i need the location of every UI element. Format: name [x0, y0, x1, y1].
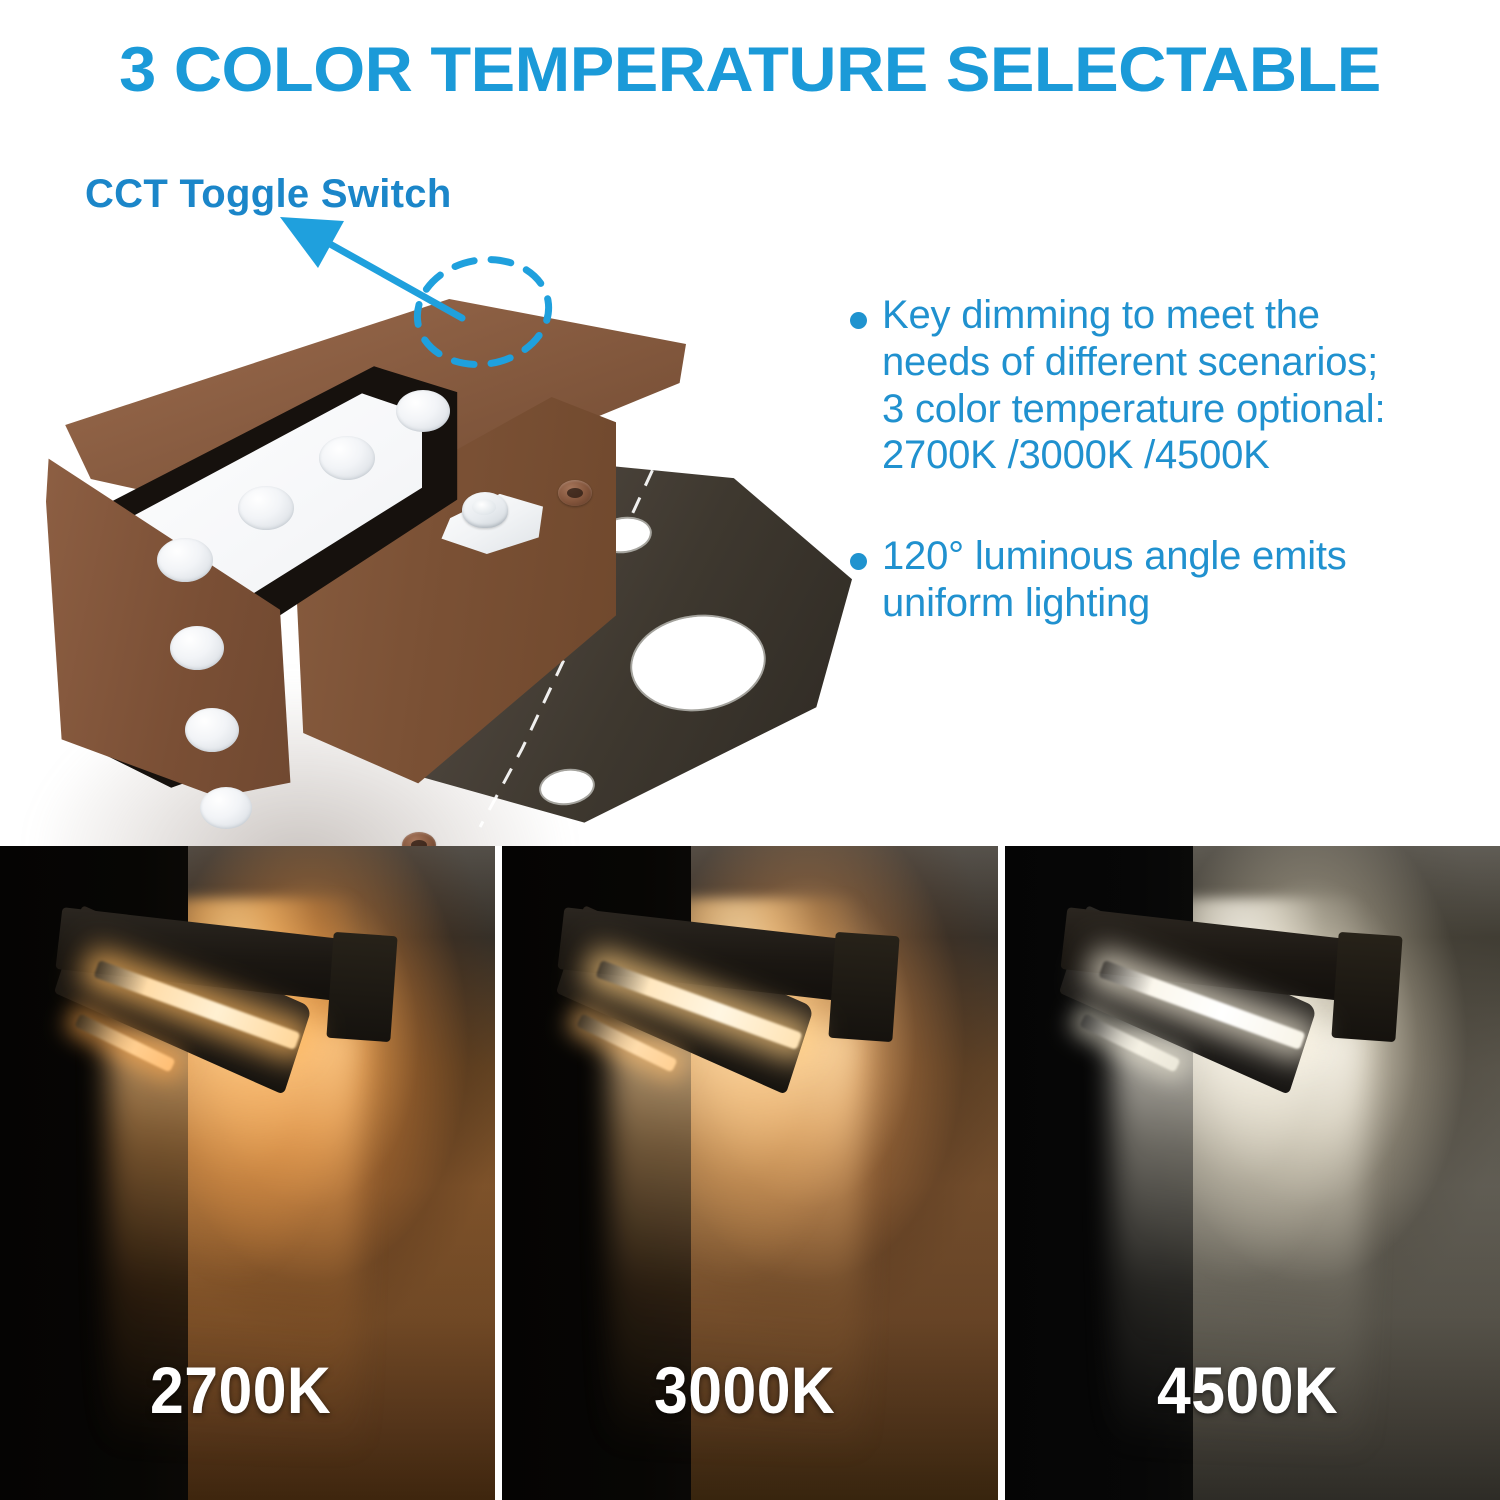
fixture-silhouette-arm: [1331, 932, 1402, 1042]
led-lens: [396, 390, 450, 432]
page-title: 3 COLOR TEMPERATURE SELECTABLE: [0, 34, 1500, 106]
panel-4500k: 4500K: [1005, 846, 1500, 1500]
fixture-silhouette-arm: [829, 932, 900, 1042]
feature-list: Key dimming to meet the needs of differe…: [846, 292, 1486, 681]
led-lens: [170, 626, 224, 670]
led-lens: [157, 538, 213, 582]
bullet-dot-icon: [850, 312, 867, 329]
product-infographic: 3 COLOR TEMPERATURE SELECTABLE: [0, 0, 1500, 1500]
panel-label-2700k: 2700K: [150, 1352, 331, 1428]
cct-toggle-switch[interactable]: [462, 492, 508, 528]
fixture-silhouette-arm: [326, 932, 397, 1042]
panel-label-3000k: 3000K: [654, 1352, 835, 1428]
bullet-dot-icon: [850, 553, 867, 570]
panel-3000k: 3000K: [502, 846, 997, 1500]
feature-bullet-1-text: Key dimming to meet the needs of differe…: [882, 292, 1486, 479]
led-lens: [185, 708, 239, 752]
panel-label-4500k: 4500K: [1157, 1352, 1338, 1428]
screw: [558, 480, 592, 506]
led-lens: [200, 787, 252, 829]
panel-2700k: 2700K: [0, 846, 495, 1500]
led-lens: [238, 486, 294, 530]
feature-bullet-2: 120° luminous angle emits uniform lighti…: [846, 533, 1486, 627]
fixture-body: [28, 257, 688, 782]
color-temperature-comparison-strip: 2700K 3000K 4500K: [0, 846, 1500, 1500]
led-lens: [319, 436, 375, 480]
cct-toggle-switch-label: CCT Toggle Switch: [85, 172, 452, 217]
feature-bullet-2-text: 120° luminous angle emits uniform lighti…: [882, 533, 1486, 627]
feature-bullet-1: Key dimming to meet the needs of differe…: [846, 292, 1486, 479]
product-photo: [10, 215, 850, 840]
